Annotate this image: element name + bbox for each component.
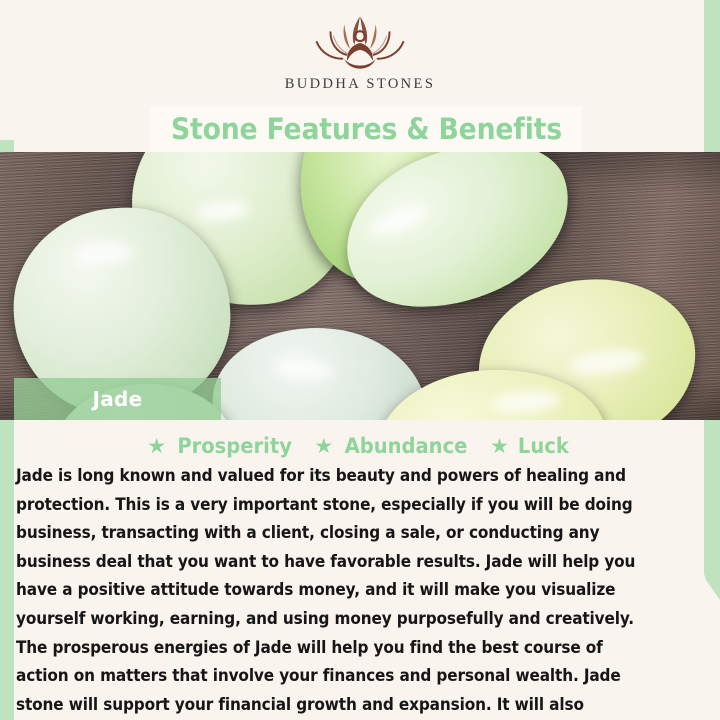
lotus-meditation-icon	[301, 12, 419, 74]
keyword-item: ★ Abundance	[314, 434, 472, 458]
page-title: Stone Features & Benefits	[171, 112, 562, 146]
keyword-list: ★ Prosperity ★ Abundance ★ Luck	[14, 430, 704, 462]
star-icon: ★	[490, 436, 509, 457]
keyword-label: Abundance	[345, 434, 468, 458]
star-icon: ★	[147, 436, 166, 457]
title-banner: Stone Features & Benefits	[150, 106, 582, 152]
keyword-label: Prosperity	[177, 434, 292, 458]
stone-name-label: Jade	[92, 387, 142, 411]
brand-logo: BUDDHA STONES	[0, 12, 720, 108]
star-icon: ★	[314, 436, 333, 457]
brand-name: BUDDHA STONES	[285, 76, 436, 93]
keyword-item: ★ Luck	[490, 434, 571, 458]
stone-name-badge: Jade	[14, 378, 221, 420]
keyword-label: Luck	[518, 434, 569, 458]
stone-description: Jade is long known and valued for its be…	[16, 462, 637, 720]
keyword-item: ★ Prosperity	[147, 434, 296, 458]
stone-benefits-poster: BUDDHA STONES Stone Features & Benefits	[0, 0, 720, 720]
